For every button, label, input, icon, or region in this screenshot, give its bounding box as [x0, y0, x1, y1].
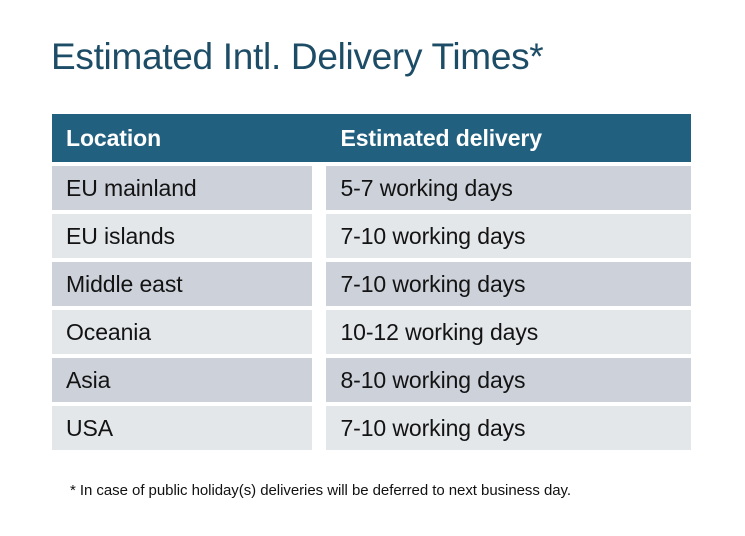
- column-divider: [312, 114, 326, 162]
- cell-location: EU islands: [52, 214, 312, 258]
- table-row: USA 7-10 working days: [52, 406, 691, 450]
- page-title: Estimated Intl. Delivery Times*: [51, 34, 543, 80]
- table-row: Middle east 7-10 working days: [52, 262, 691, 306]
- cell-location: Asia: [52, 358, 312, 402]
- cell-location: EU mainland: [52, 166, 312, 210]
- cell-divider: [312, 214, 326, 258]
- cell-estimated-delivery: 7-10 working days: [326, 262, 691, 306]
- cell-divider: [312, 406, 326, 450]
- table-body: EU mainland 5-7 working days EU islands …: [52, 162, 691, 450]
- column-header-estimated-delivery: Estimated delivery: [326, 114, 691, 162]
- cell-location: Oceania: [52, 310, 312, 354]
- column-header-location: Location: [52, 114, 312, 162]
- cell-estimated-delivery: 8-10 working days: [326, 358, 691, 402]
- delivery-times-table: Location Estimated delivery EU mainland …: [52, 114, 691, 450]
- footnote-text: * In case of public holiday(s) deliverie…: [70, 481, 571, 501]
- cell-estimated-delivery: 7-10 working days: [326, 214, 691, 258]
- table-row: Oceania 10-12 working days: [52, 310, 691, 354]
- table-row: Asia 8-10 working days: [52, 358, 691, 402]
- cell-estimated-delivery: 10-12 working days: [326, 310, 691, 354]
- cell-divider: [312, 358, 326, 402]
- delivery-times-card: Estimated Intl. Delivery Times* Location…: [0, 0, 745, 536]
- table-row: EU mainland 5-7 working days: [52, 166, 691, 210]
- table-row: EU islands 7-10 working days: [52, 214, 691, 258]
- table-header-row: Location Estimated delivery: [52, 114, 691, 162]
- cell-divider: [312, 310, 326, 354]
- cell-divider: [312, 262, 326, 306]
- cell-estimated-delivery: 7-10 working days: [326, 406, 691, 450]
- cell-divider: [312, 166, 326, 210]
- cell-location: Middle east: [52, 262, 312, 306]
- cell-estimated-delivery: 5-7 working days: [326, 166, 691, 210]
- cell-location: USA: [52, 406, 312, 450]
